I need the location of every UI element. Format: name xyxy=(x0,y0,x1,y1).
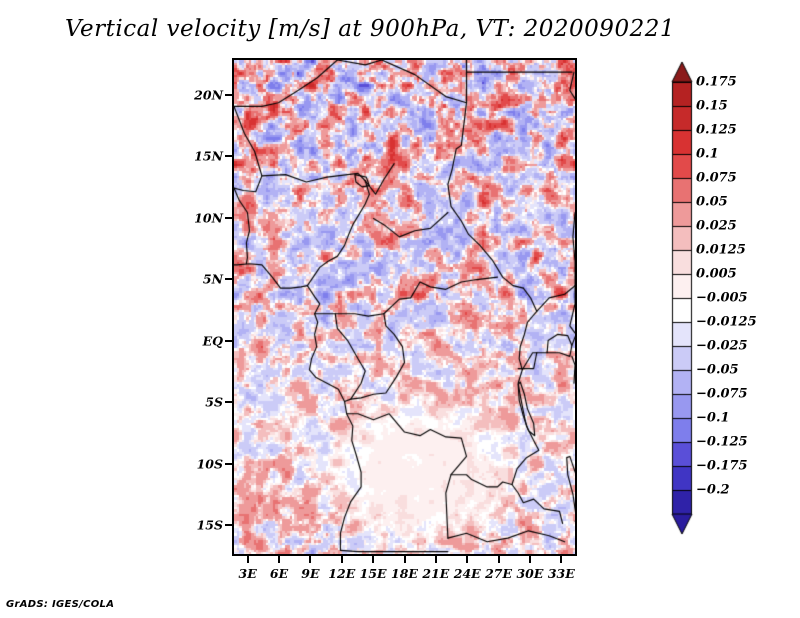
longitude-tick-label: 18E xyxy=(391,566,418,581)
map-plot-area: 20N15N10N5NEQ5S10S15S 3E6E9E12E15E18E21E… xyxy=(232,58,577,556)
grads-attribution: GrADS: IGES/COLA xyxy=(6,599,114,610)
page-title: Vertical velocity [m/s] at 900hPa, VT: 2… xyxy=(0,16,740,42)
longitude-tick-mark xyxy=(560,556,562,563)
longitude-tick-mark xyxy=(309,556,311,563)
longitude-tick-mark xyxy=(372,556,374,563)
longitude-tick-mark xyxy=(247,556,249,563)
longitude-tick-label: 6E xyxy=(270,566,288,581)
latitude-tick-label: 20N xyxy=(194,87,223,102)
colorbar-tick-label: −0.0125 xyxy=(696,315,757,330)
colorbar-tick-label: 0.0125 xyxy=(696,243,746,258)
latitude-tick-label: 10S xyxy=(197,456,223,471)
colorbar-tick-label: −0.175 xyxy=(696,459,748,474)
colorbar: 0.1750.150.1250.10.0750.050.0250.01250.0… xyxy=(670,60,790,560)
longitude-tick-mark xyxy=(435,556,437,563)
longitude-tick-label: 30E xyxy=(516,566,543,581)
longitude-tick-mark xyxy=(278,556,280,563)
colorbar-tick-label: −0.05 xyxy=(696,363,739,378)
latitude-tick-label: 15S xyxy=(197,518,223,533)
colorbar-tick-label: 0.05 xyxy=(696,195,728,210)
country-borders-overlay xyxy=(234,60,575,554)
colorbar-tick-label: 0.1 xyxy=(696,147,719,162)
latitude-tick-mark xyxy=(225,217,232,219)
latitude-tick-label: 5N xyxy=(203,272,223,287)
latitude-tick-label: EQ xyxy=(203,333,223,348)
longitude-tick-label: 9E xyxy=(301,566,319,581)
latitude-tick-label: 10N xyxy=(194,210,223,225)
longitude-tick-mark xyxy=(341,556,343,563)
longitude-tick-mark xyxy=(498,556,500,563)
latitude-tick-mark xyxy=(225,524,232,526)
colorbar-tick-label: −0.025 xyxy=(696,339,748,354)
colorbar-tick-label: 0.15 xyxy=(696,99,728,114)
colorbar-tick-label: −0.1 xyxy=(696,411,730,426)
latitude-tick-mark xyxy=(225,278,232,280)
longitude-tick-label: 3E xyxy=(239,566,257,581)
longitude-tick-label: 15E xyxy=(360,566,387,581)
map-frame xyxy=(232,58,577,556)
latitude-tick-mark xyxy=(225,463,232,465)
latitude-tick-mark xyxy=(225,155,232,157)
latitude-tick-mark xyxy=(225,340,232,342)
colorbar-tick-label: −0.075 xyxy=(696,387,748,402)
colorbar-tick-label: 0.005 xyxy=(696,267,737,282)
colorbar-tick-label: 0.175 xyxy=(696,75,737,90)
longitude-tick-label: 33E xyxy=(548,566,575,581)
colorbar-tick-label: 0.075 xyxy=(696,171,737,186)
longitude-tick-label: 27E xyxy=(485,566,512,581)
colorbar-tick-label: 0.125 xyxy=(696,123,737,138)
longitude-tick-label: 12E xyxy=(328,566,355,581)
latitude-tick-mark xyxy=(225,401,232,403)
colorbar-tick-label: −0.125 xyxy=(696,435,748,450)
latitude-tick-mark xyxy=(225,94,232,96)
longitude-tick-label: 24E xyxy=(454,566,481,581)
latitude-tick-label: 5S xyxy=(205,395,223,410)
colorbar-tick-label: −0.2 xyxy=(696,483,730,498)
latitude-tick-label: 15N xyxy=(194,149,223,164)
longitude-tick-mark xyxy=(404,556,406,563)
longitude-tick-mark xyxy=(466,556,468,563)
longitude-tick-label: 21E xyxy=(422,566,449,581)
colorbar-tick-label: −0.005 xyxy=(696,291,748,306)
longitude-tick-mark xyxy=(529,556,531,563)
colorbar-tick-label: 0.025 xyxy=(696,219,737,234)
